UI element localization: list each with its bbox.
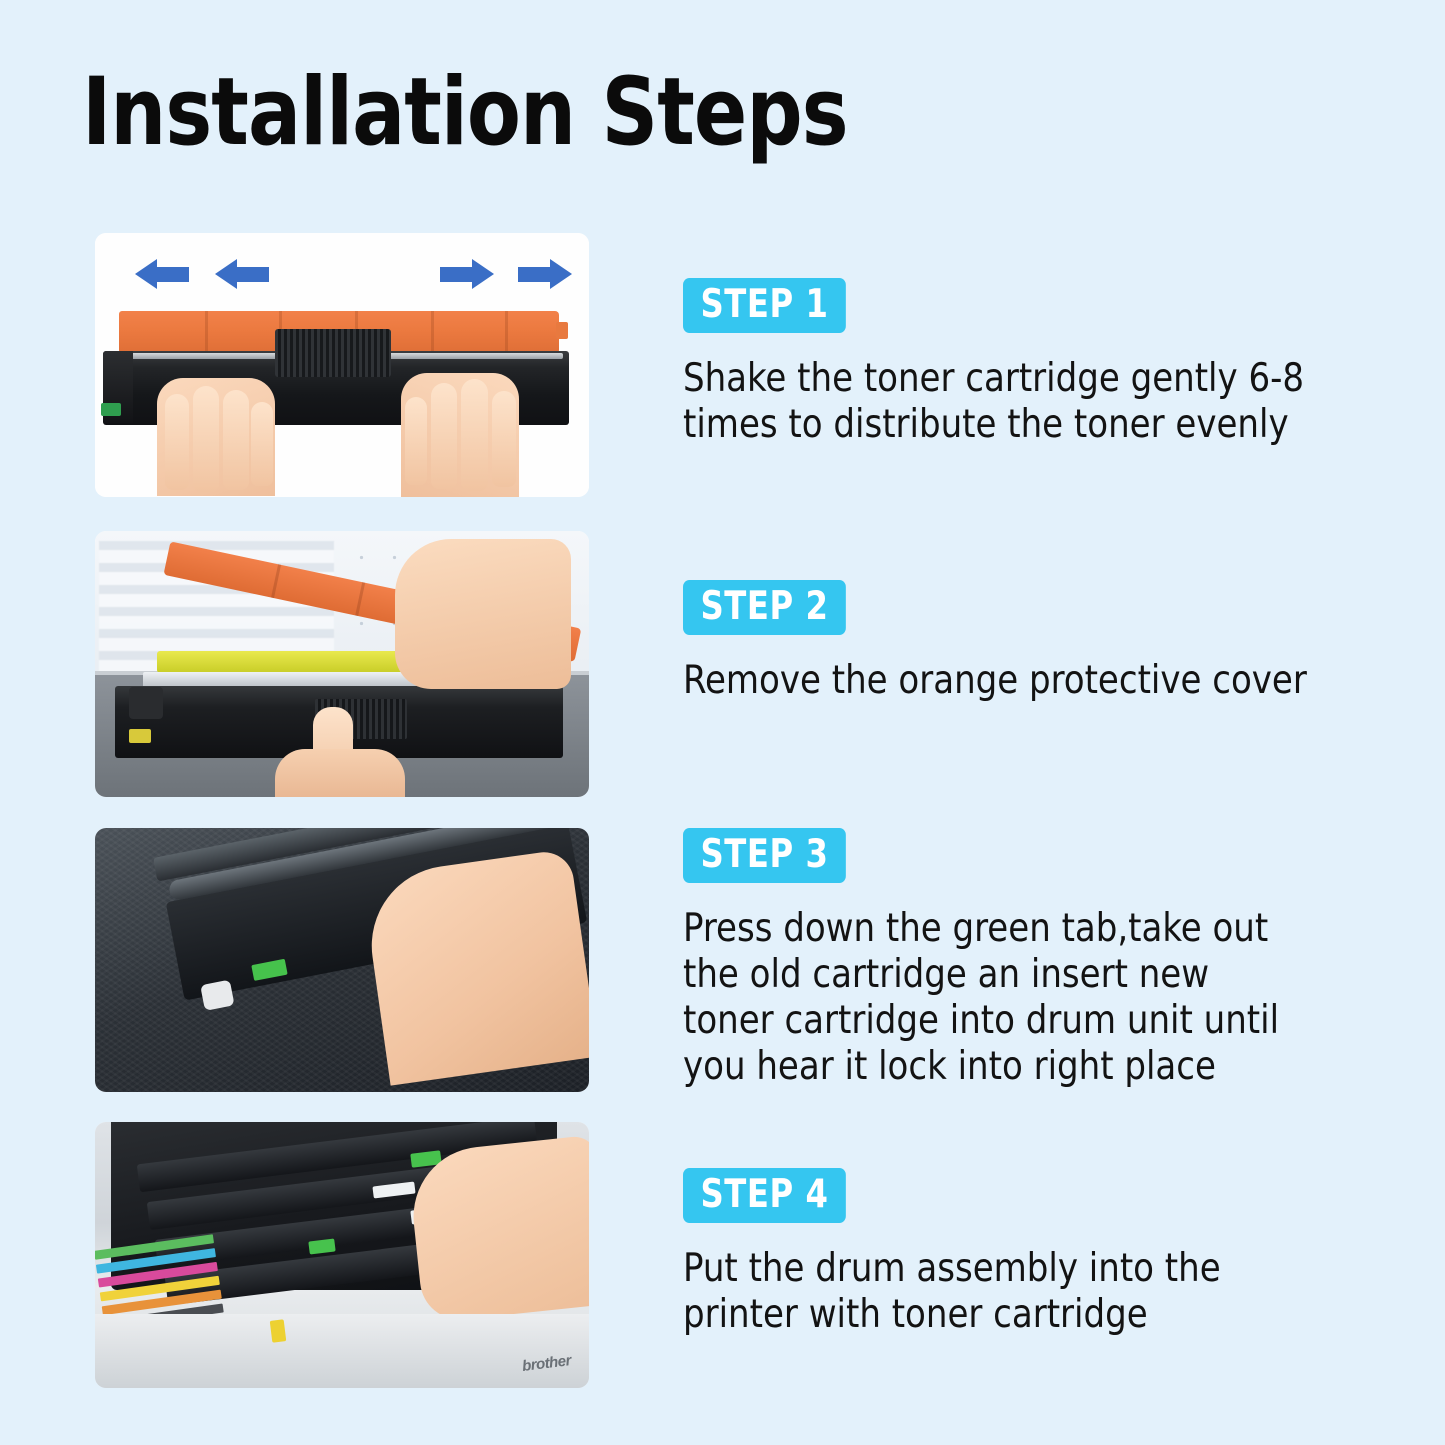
step-3-photo <box>95 828 589 1092</box>
green-tab-icon <box>308 1238 335 1254</box>
step-1-description: Shake the toner cartridge gently 6-8 tim… <box>683 356 1362 448</box>
step-4-text-column: STEP 4 Put the drum assembly into the pr… <box>683 1168 1383 1338</box>
arrow-left-icon <box>215 259 269 290</box>
step-1-badge: STEP 1 <box>683 278 846 333</box>
step-3-badge: STEP 3 <box>683 828 846 883</box>
step-2-text-column: STEP 2 Remove the orange protective cove… <box>683 580 1383 704</box>
printer-base <box>95 1314 589 1388</box>
step-4-photo: brother <box>95 1122 589 1388</box>
step-2-photo <box>95 531 589 797</box>
drum-white-knob <box>200 980 234 1011</box>
step-3-text-column: STEP 3 Press down the green tab,take out… <box>683 828 1383 1090</box>
arrow-left-icon <box>135 259 189 290</box>
step-3-description: Press down the green tab,take out the ol… <box>683 906 1362 1090</box>
printer-yellow-latch <box>270 1319 287 1343</box>
right-hand <box>401 373 519 497</box>
step-2-badge: STEP 2 <box>683 580 846 635</box>
step-1-photo <box>95 233 589 497</box>
left-hand <box>157 378 275 496</box>
installation-steps-infographic: Installation Steps <box>0 0 1445 1445</box>
step-4-description: Put the drum assembly into the printer w… <box>683 1246 1362 1338</box>
step-1-text-column: STEP 1 Shake the toner cartridge gently … <box>683 278 1383 448</box>
cartridge-gear <box>129 687 163 719</box>
cartridge-grip-ribs <box>275 329 391 377</box>
arrow-right-icon <box>440 259 494 290</box>
page-title: Installation Steps <box>82 66 848 160</box>
supporting-hand <box>275 749 405 797</box>
step-4-badge: STEP 4 <box>683 1168 846 1223</box>
right-hand <box>395 539 571 689</box>
cartridge-chip <box>101 403 121 416</box>
arrow-right-icon <box>518 259 572 290</box>
cartridge-chip <box>129 729 151 743</box>
step-2-description: Remove the orange protective cover <box>683 658 1362 704</box>
